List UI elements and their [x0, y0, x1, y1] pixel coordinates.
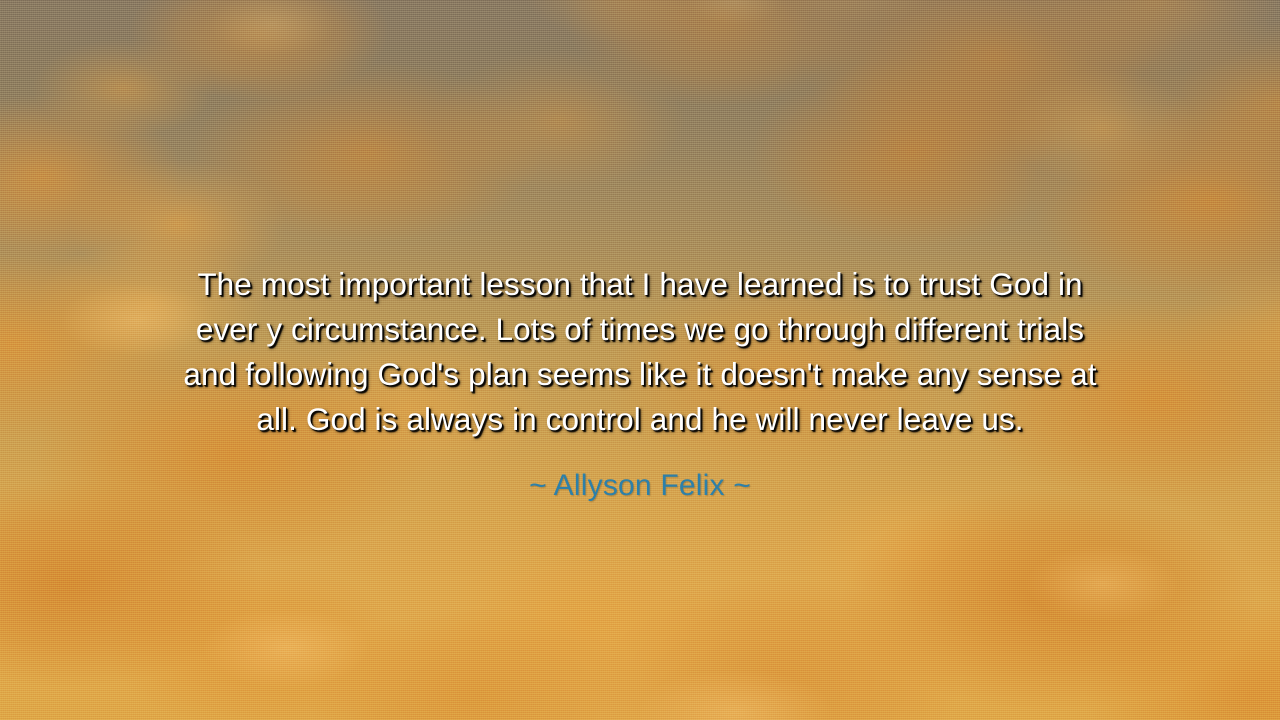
quote-image: The most important lesson that I have le…	[0, 0, 1280, 720]
quote-attribution: ~ Allyson Felix ~	[46, 442, 1234, 504]
quote-text: The most important lesson that I have le…	[46, 262, 1234, 442]
quote-block: The most important lesson that I have le…	[0, 262, 1280, 504]
